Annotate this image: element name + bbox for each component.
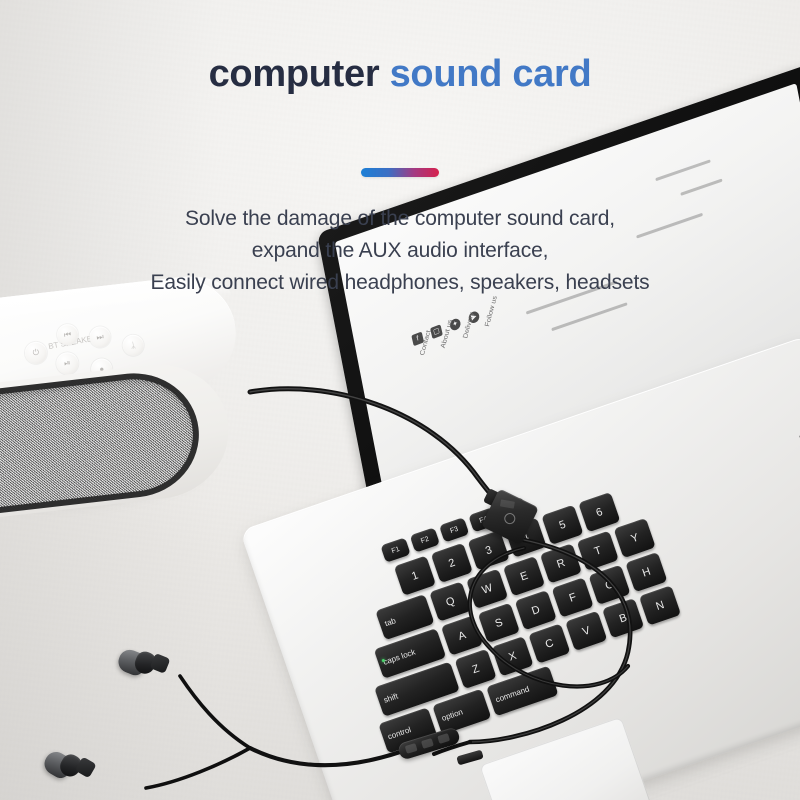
headline-block: computer sound card Solve the damage of … bbox=[0, 54, 800, 299]
page-title: computer sound card bbox=[0, 54, 800, 96]
power-icon: ⏻ bbox=[24, 341, 48, 365]
key-Z[interactable]: Z bbox=[454, 649, 496, 689]
key-A[interactable]: A bbox=[441, 615, 483, 655]
key-Y[interactable]: Y bbox=[614, 518, 656, 558]
key-F2[interactable]: F2 bbox=[410, 527, 440, 552]
subtitle-line-1: Solve the damage of the computer sound c… bbox=[0, 203, 800, 235]
previous-track-button[interactable]: ⏮ bbox=[56, 323, 79, 346]
key-S[interactable]: S bbox=[478, 603, 520, 643]
screen-text-line bbox=[551, 302, 627, 331]
play-pause-button[interactable]: ⏯ bbox=[55, 351, 79, 375]
key-F3[interactable]: F3 bbox=[439, 517, 469, 542]
divider-wrap bbox=[0, 168, 800, 177]
key-6[interactable]: 6 bbox=[578, 492, 620, 532]
key-1[interactable]: 1 bbox=[394, 555, 436, 595]
key-X[interactable]: X bbox=[491, 636, 533, 676]
key-5[interactable]: 5 bbox=[541, 505, 583, 545]
remote-button-volume-down[interactable] bbox=[437, 733, 450, 744]
page-title-blue-part: sound card bbox=[390, 53, 592, 95]
key-F[interactable]: F bbox=[552, 577, 594, 617]
bluetooth-icon: ᛦ bbox=[122, 334, 145, 357]
key-2[interactable]: 2 bbox=[431, 543, 473, 583]
adapter-jack-slot bbox=[500, 499, 515, 508]
bluetooth-button[interactable]: ᛦ bbox=[122, 334, 145, 357]
power-button[interactable]: ⏻ bbox=[24, 341, 48, 365]
key-G[interactable]: G bbox=[588, 565, 630, 605]
key-caps-lock-label: caps lock bbox=[382, 647, 416, 666]
play-pause-icon: ⏯ bbox=[55, 351, 79, 375]
previous-track-icon: ⏮ bbox=[56, 323, 79, 346]
key-B[interactable]: B bbox=[602, 598, 644, 638]
key-D[interactable]: D bbox=[515, 590, 557, 630]
adapter-logo-icon bbox=[502, 511, 517, 526]
key-Q[interactable]: Q bbox=[429, 581, 471, 621]
key-H[interactable]: H bbox=[625, 552, 667, 592]
remote-button-volume-up[interactable] bbox=[405, 743, 418, 754]
key-R[interactable]: R bbox=[540, 543, 582, 583]
next-track-button[interactable]: ⏭ bbox=[88, 325, 111, 348]
page-title-dark-part: computer bbox=[209, 53, 390, 95]
key-W[interactable]: W bbox=[466, 569, 508, 609]
key-E[interactable]: E bbox=[503, 556, 545, 596]
product-banner: BT SPEAKER ⏻ ⏮ ⏯ ⏭ ● ᛦ bbox=[0, 0, 800, 800]
subtitle-line-3: Easily connect wired headphones, speaker… bbox=[0, 267, 800, 299]
screen-label-follow-us[interactable]: Follow us bbox=[484, 296, 499, 328]
next-track-icon: ⏭ bbox=[88, 325, 111, 348]
gradient-divider bbox=[361, 168, 439, 177]
key-F1[interactable]: F1 bbox=[380, 537, 410, 562]
remote-button-play[interactable] bbox=[421, 738, 434, 749]
key-N[interactable]: N bbox=[639, 585, 681, 625]
wired-earphones bbox=[30, 615, 280, 800]
key-C[interactable]: C bbox=[528, 623, 570, 663]
key-V[interactable]: V bbox=[565, 611, 607, 651]
subtitle: Solve the damage of the computer sound c… bbox=[0, 203, 800, 299]
subtitle-line-2: expand the AUX audio interface, bbox=[0, 235, 800, 267]
key-T[interactable]: T bbox=[577, 531, 619, 571]
